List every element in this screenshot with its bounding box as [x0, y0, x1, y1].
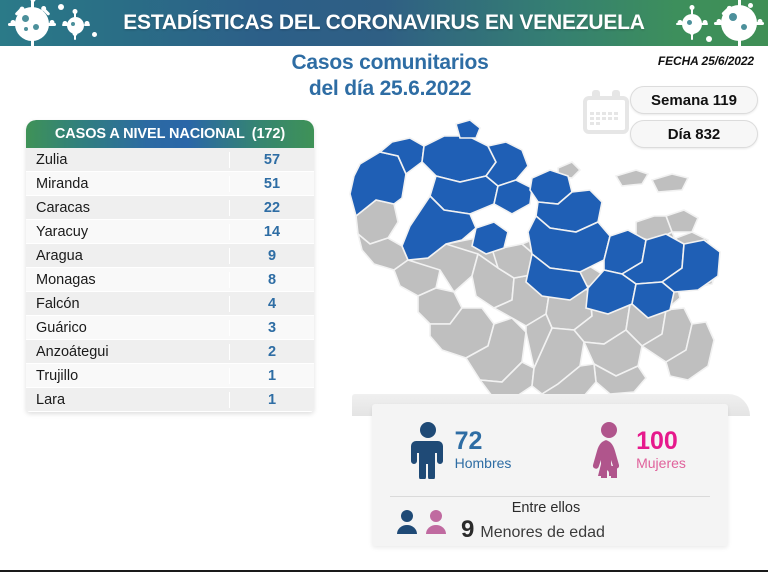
venezuela-map[interactable]: [336, 118, 756, 400]
table-cell-state: Monagas: [26, 272, 230, 288]
table-cell-cases: 14: [230, 224, 314, 240]
subtitle: Casos comunitarios del día 25.6.2022: [180, 50, 600, 102]
female-count: 100: [636, 428, 678, 455]
minors-row: Entre ellos 9 Menores de edad: [372, 497, 728, 546]
minor-male-icon: [394, 509, 420, 535]
table-row: Monagas8: [26, 268, 314, 292]
table-cell-cases: 3: [230, 320, 314, 336]
table-cell-state: Zulia: [26, 152, 230, 168]
gender-stats-panel: 72 Hombres 100 Mujeres: [372, 404, 728, 546]
table-cell-cases: 51: [230, 176, 314, 192]
male-count: 72: [455, 428, 483, 455]
table-row: Zulia57: [26, 148, 314, 172]
header-banner: ESTADÍSTICAS DEL CORONAVIRUS EN VENEZUEL…: [0, 0, 768, 46]
table-cell-state: Guárico: [26, 320, 230, 336]
table-cell-state: Caracas: [26, 200, 230, 216]
female-stat: 100 Mujeres: [550, 421, 728, 479]
table-row: Yaracuy14: [26, 220, 314, 244]
infographic-root: ESTADÍSTICAS DEL CORONAVIRUS EN VENEZUEL…: [0, 0, 768, 572]
table-cell-cases: 4: [230, 296, 314, 312]
minors-text: Entre ellos 9 Menores de edad: [461, 500, 605, 543]
fecha-label: FECHA 25/6/2022: [658, 54, 754, 68]
table-cell-state: Falcón: [26, 296, 230, 312]
table-cell-cases: 57: [230, 152, 314, 168]
minor-female-icon: [423, 509, 449, 535]
table-row: Trujillo1: [26, 364, 314, 388]
table-cell-cases: 2: [230, 344, 314, 360]
female-label: Mujeres: [636, 455, 686, 472]
minors-count: 9: [461, 517, 474, 543]
table-row: Aragua9: [26, 244, 314, 268]
table-row: Lara1: [26, 388, 314, 412]
table-cell-state: Lara: [26, 392, 230, 408]
table-row: Caracas22: [26, 196, 314, 220]
minors-prefix: Entre ellos: [512, 500, 581, 517]
table-cell-state: Aragua: [26, 248, 230, 264]
male-label: Hombres: [455, 455, 512, 472]
week-badge[interactable]: Semana 119: [630, 86, 758, 114]
female-icon: [592, 421, 626, 479]
minor-icons: [394, 509, 449, 535]
table-cell-cases: 9: [230, 248, 314, 264]
table-row: Miranda51: [26, 172, 314, 196]
table-cell-cases: 8: [230, 272, 314, 288]
table-row: Anzoátegui2: [26, 340, 314, 364]
subtitle-line-1: Casos comunitarios: [180, 50, 600, 76]
table-header-label: CASOS A NIVEL NACIONAL: [55, 126, 245, 142]
table-cell-cases: 1: [230, 392, 314, 408]
subtitle-line-2: del día 25.6.2022: [180, 76, 600, 102]
national-cases-table: CASOS A NIVEL NACIONAL (172) Zulia57Mira…: [26, 120, 314, 412]
table-cell-cases: 1: [230, 368, 314, 384]
male-stat: 72 Hombres: [372, 421, 550, 479]
table-cell-state: Anzoátegui: [26, 344, 230, 360]
table-header-count: (172): [252, 126, 285, 142]
table-cell-cases: 22: [230, 200, 314, 216]
table-cell-state: Trujillo: [26, 368, 230, 384]
table-row: Guárico3: [26, 316, 314, 340]
male-icon: [411, 421, 445, 479]
table-row: Falcón4: [26, 292, 314, 316]
table-cell-state: Miranda: [26, 176, 230, 192]
table-header: CASOS A NIVEL NACIONAL (172): [26, 120, 314, 148]
gender-top-row: 72 Hombres 100 Mujeres: [372, 404, 728, 496]
table-cell-state: Yaracuy: [26, 224, 230, 240]
minors-label: Menores de edad: [480, 524, 605, 542]
page-title: ESTADÍSTICAS DEL CORONAVIRUS EN VENEZUEL…: [0, 0, 768, 46]
table-body: Zulia57Miranda51Caracas22Yaracuy14Aragua…: [26, 148, 314, 412]
